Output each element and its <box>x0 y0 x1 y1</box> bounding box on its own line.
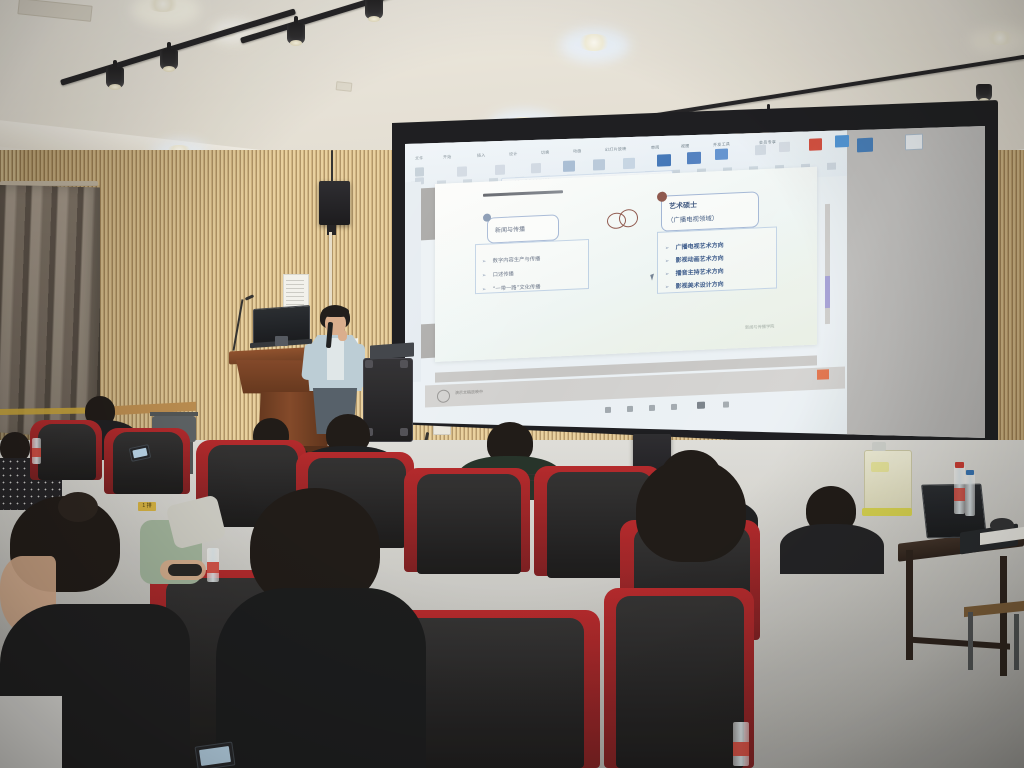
ribbon-icon-doc-assistant[interactable] <box>835 135 849 148</box>
side-chair-leg <box>968 612 973 670</box>
track-spotlight <box>158 42 180 76</box>
ceiling-vent <box>336 81 353 92</box>
tab-donghua[interactable]: 动画 <box>573 148 582 154</box>
air-purifier-vent <box>872 442 886 451</box>
tab-sheji[interactable]: 设计 <box>509 151 518 157</box>
tray-icon[interactable] <box>605 407 611 413</box>
slide-left-node-title: 新闻与传播 <box>495 224 525 234</box>
table-leg <box>906 550 913 660</box>
tray-icon[interactable] <box>671 404 677 410</box>
case-corner <box>400 360 408 368</box>
taskbar-notification-badge[interactable] <box>817 369 829 380</box>
list-item: ➢ 影视美术设计方向 <box>665 273 724 294</box>
tab-wenjian[interactable]: 文件 <box>415 155 424 161</box>
tab-kaishi[interactable]: 开始 <box>443 154 452 160</box>
water-bottle <box>965 474 975 516</box>
slide-right-node: 艺术硕士 （广播电视领域） <box>661 191 759 231</box>
slide-thumbnail[interactable] <box>421 188 435 241</box>
window-curtain <box>0 185 100 440</box>
water-bottle-label <box>32 448 41 457</box>
ribbon-icon-presentation-tools[interactable] <box>905 134 923 151</box>
tab-shitu[interactable]: 视图 <box>681 143 690 149</box>
air-purifier-logo <box>871 462 889 472</box>
smartphone-screen <box>132 448 147 459</box>
ribbon-icon-cloud[interactable] <box>755 145 766 155</box>
slide-left-list: ➢ 数字内容生产与传播 ➢ 口述传播 ➢ “一带一路”文化传播 <box>475 239 589 294</box>
window-minimize-button[interactable] <box>790 128 796 129</box>
slide-left-bullet-3: “一带一路”文化传播 <box>493 284 541 292</box>
case-corner <box>400 428 408 436</box>
track-spotlight <box>285 16 307 50</box>
auditorium-seat-cushion <box>616 596 744 768</box>
two-interlocking-rings-icon <box>607 209 643 231</box>
tab-kaifa[interactable]: 开发工具 <box>713 141 730 148</box>
audience-shoulders <box>780 524 884 574</box>
bullet-glyph: ➢ <box>665 284 669 290</box>
ribbon-icon-picture[interactable] <box>657 154 671 167</box>
air-purifier-base <box>862 508 912 516</box>
air-purifier <box>864 450 912 514</box>
tray-icon[interactable] <box>627 406 633 412</box>
slide-title-rule <box>483 190 563 197</box>
tab-charu[interactable]: 插入 <box>477 152 486 158</box>
window-maximize-button[interactable] <box>803 126 811 132</box>
app-scroll-thumb[interactable] <box>825 276 830 308</box>
smartphone[interactable] <box>195 741 236 768</box>
wall-speaker-conduit <box>329 232 332 306</box>
slide-canvas[interactable]: 新闻与传播 ➢ 数字内容生产与传播 ➢ 口述传播 ➢ “一带一路”文化传 <box>435 167 817 362</box>
list-item: ➢ “一带一路”文化传播 <box>482 275 541 296</box>
screen-gray-margin <box>847 126 985 438</box>
ribbon-icon-shape[interactable] <box>623 158 635 170</box>
slide-right-node-title-2: （广播电视领域） <box>667 213 718 224</box>
slide-right-list: ➢ 广播电视艺术方向 ➢ 影视动画艺术方向 ➢ 播音主持艺术方向 ➢ 影视美术设… <box>657 226 777 293</box>
taskbar-start-icon[interactable] <box>437 389 450 403</box>
interactive-flat-panel[interactable]: 研究生招生宣讲.pptx 已保存 × 文件 开始 插入 设计 切换 动画 幻灯片… <box>392 100 998 452</box>
bullet-glyph: ➢ <box>482 287 486 293</box>
smartphone-screen <box>199 746 231 766</box>
tray-icon[interactable] <box>723 401 729 407</box>
slide-right-bullet-4: 影视美术设计方向 <box>676 281 724 290</box>
track-spotlight <box>104 60 126 94</box>
curtain-rod <box>0 181 98 186</box>
ceiling-downlight <box>577 34 611 51</box>
auditorium-seat-cushion <box>113 432 183 494</box>
case-corner <box>365 360 373 368</box>
seat-number-label: 1 排 <box>138 502 156 511</box>
lecture-hall-scene: 研究生招生宣讲.pptx 已保存 × 文件 开始 插入 设计 切换 动画 幻灯片… <box>0 0 1024 768</box>
audience-shirt-white <box>0 696 62 768</box>
auditorium-seat-cushion <box>417 474 521 574</box>
side-chair-leg <box>1014 614 1019 670</box>
tray-icon[interactable] <box>697 402 705 409</box>
audience-hair-bun <box>58 492 98 522</box>
tray-icon[interactable] <box>649 405 655 411</box>
window-close-button[interactable]: × <box>817 126 824 131</box>
folding-chair-leg <box>190 442 193 474</box>
ring-right <box>619 209 638 228</box>
taskbar-window-label[interactable]: 演示文稿放映中 <box>455 389 483 396</box>
ribbon-icon-font[interactable] <box>563 160 575 172</box>
water-bottle-label <box>207 562 219 573</box>
water-bottle-label <box>954 488 965 501</box>
mouse-cursor <box>650 274 656 281</box>
presenter-fringe <box>322 306 349 317</box>
ribbon-icon-new-slide[interactable] <box>457 166 467 176</box>
audience-shoe <box>168 564 202 576</box>
ribbon-icon-paste[interactable] <box>415 167 424 176</box>
panel-screen[interactable]: 研究生招生宣讲.pptx 已保存 × 文件 开始 插入 设计 切换 动画 幻灯片… <box>405 126 985 438</box>
ribbon-icon-smartart[interactable] <box>715 148 728 160</box>
taskbar-tray <box>605 398 785 414</box>
tab-fangying[interactable]: 幻灯片放映 <box>605 146 627 153</box>
ceiling-downlight <box>985 31 1015 45</box>
wall-speaker-cable <box>331 150 333 182</box>
slide-left-node: 新闻与传播 <box>487 214 559 243</box>
water-bottle-label <box>733 742 749 756</box>
ribbon-icon-resource-store[interactable] <box>857 138 873 153</box>
water-bottle-cap <box>966 470 974 475</box>
tab-qiehuan[interactable]: 切换 <box>541 150 550 156</box>
podium-small-device <box>275 336 288 346</box>
audience-head-foreground <box>636 458 746 562</box>
water-bottle-cap <box>955 462 964 468</box>
presenter-hand <box>338 330 347 341</box>
ribbon-icon-ai[interactable] <box>779 142 790 152</box>
poster-text-lines <box>286 280 304 308</box>
ribbon-icon-paragraph[interactable] <box>593 159 605 171</box>
track-spotlight <box>363 0 385 30</box>
slide-footer-note: 新闻与传播学院 <box>745 324 774 331</box>
ribbon-icon-layout[interactable] <box>495 165 505 175</box>
tab-shenyue[interactable]: 审阅 <box>651 145 660 151</box>
ribbon-icon-export-pdf[interactable] <box>809 138 822 151</box>
wall-loudspeaker <box>319 181 350 225</box>
ribbon-icon-textbox[interactable] <box>687 152 701 165</box>
slide-right-node-title-1: 艺术硕士 <box>669 200 697 211</box>
auditorium-seat-cushion <box>38 424 96 480</box>
slide-thumbnail[interactable] <box>421 324 435 359</box>
table-leg <box>1000 556 1007 676</box>
ribbon-icon-section[interactable] <box>531 163 541 173</box>
audience-torso-foreground <box>216 588 426 768</box>
